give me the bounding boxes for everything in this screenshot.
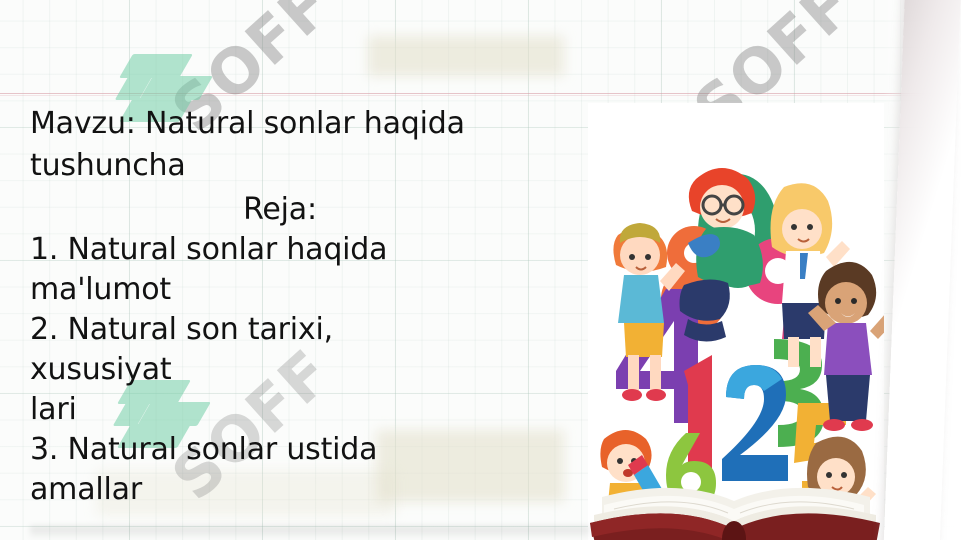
illustration-svg <box>588 103 884 540</box>
plan-item-1-line-2: ma'lumot <box>30 274 171 306</box>
plan-item-1-line-1: 1. Natural sonlar haqida <box>30 234 387 266</box>
presentation-slide: SOFF SOFF SOFF SOFF Mavzu: Natural sonla… <box>0 0 961 540</box>
plan-item-3-line-2: amallar <box>30 474 142 506</box>
page-bottom-shadow <box>30 526 590 540</box>
slide-text-block: Mavzu: Natural sonlar haqida tushuncha R… <box>0 0 600 540</box>
plan-heading: Reja: <box>0 194 560 226</box>
plan-item-2-line-3: lari <box>30 394 77 426</box>
plan-item-2-line-2: xususiyat <box>30 354 171 386</box>
plan-item-2-line-1: 2. Natural son tarixi, <box>30 314 333 346</box>
slide-title-line-1: Mavzu: Natural sonlar haqida <box>30 108 465 140</box>
plan-item-3-line-1: 3. Natural sonlar ustida <box>30 434 377 466</box>
slide-title-line-2: tushuncha <box>30 150 186 182</box>
math-illustration <box>588 103 884 540</box>
